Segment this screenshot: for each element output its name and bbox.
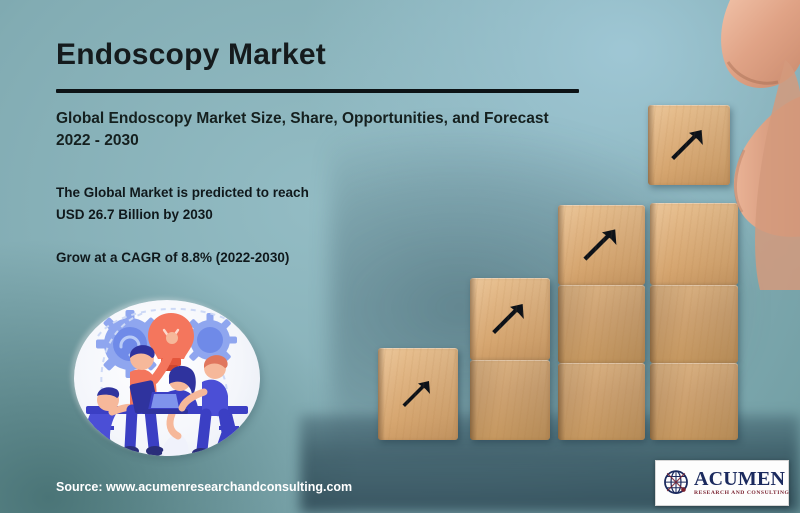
wooden-block-col3-bottom — [558, 363, 645, 440]
infographic-canvas: Endoscopy Market Global Endoscopy Market… — [0, 0, 800, 513]
block-edge — [378, 348, 385, 440]
hand-icon — [690, 0, 800, 290]
block-edge — [470, 360, 477, 440]
up-right-arrow-icon — [398, 374, 438, 414]
logo-tagline: RESEARCH AND CONSULTING — [694, 491, 789, 497]
wooden-block-col2-bottom — [470, 360, 550, 440]
block-edge — [648, 105, 655, 185]
title-divider — [56, 89, 579, 93]
source-text: Source: www.acumenresearchandconsulting.… — [56, 480, 352, 494]
logo-text-group: ACUMEN RESEARCH AND CONSULTING — [694, 469, 789, 497]
cagr-statement: Grow at a CAGR of 8.8% (2022-2030) — [56, 250, 289, 265]
stat-line-2: USD 26.7 Billion by 2030 — [56, 204, 476, 226]
block-edge — [558, 285, 565, 363]
subtitle-text: Global Endoscopy Market Size, Share, Opp… — [56, 108, 576, 152]
wooden-block-col1-top — [378, 348, 458, 440]
block-edge — [650, 285, 657, 363]
wooden-block-col4-bottom — [650, 363, 738, 440]
block-edge — [558, 205, 565, 285]
market-value-statement: The Global Market is predicted to reach … — [56, 182, 476, 226]
up-right-arrow-icon — [578, 221, 626, 269]
block-edge — [470, 278, 477, 360]
block-edge — [650, 203, 657, 285]
wooden-block-col4-middle — [650, 285, 738, 363]
block-edge — [558, 363, 565, 440]
wooden-block-col3-middle — [558, 285, 645, 363]
up-right-arrow-icon — [487, 296, 533, 342]
globe-icon — [661, 468, 691, 498]
page-title: Endoscopy Market — [56, 38, 326, 72]
block-edge — [650, 363, 657, 440]
acumen-logo[interactable]: ACUMEN RESEARCH AND CONSULTING — [655, 460, 789, 506]
team-collaboration-illustration — [68, 296, 266, 458]
wooden-block-col3-top — [558, 205, 645, 285]
stat-line-1: The Global Market is predicted to reach — [56, 182, 476, 204]
logo-company-name: ACUMEN — [694, 469, 789, 489]
wooden-block-col2-top — [470, 278, 550, 360]
